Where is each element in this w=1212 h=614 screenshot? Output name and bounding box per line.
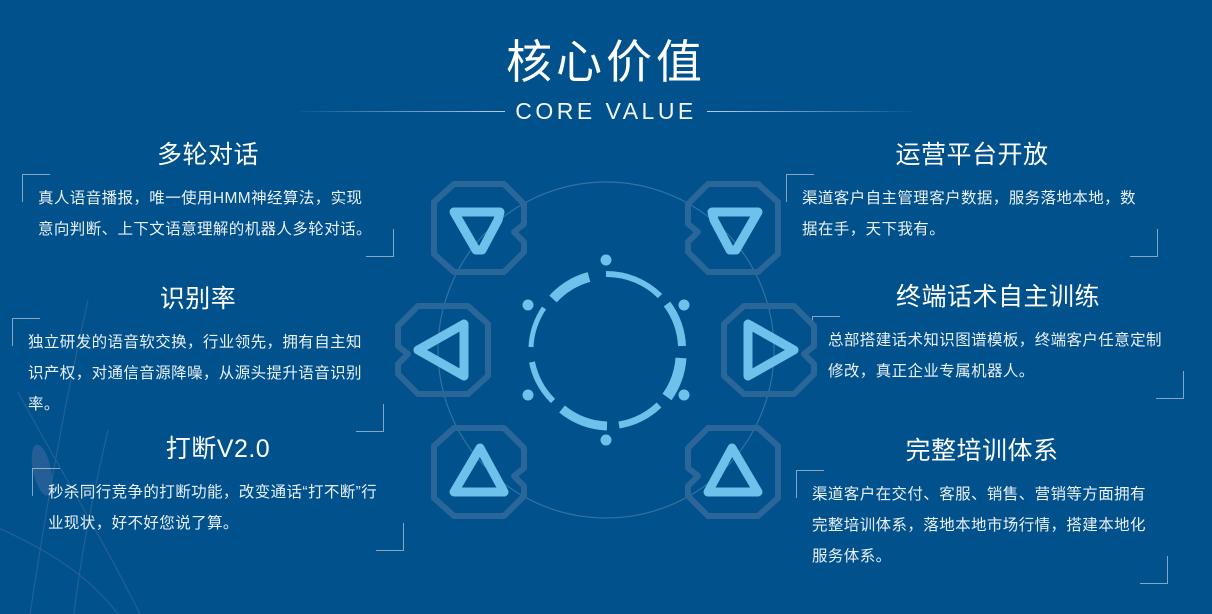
card-body-wrap: 总部搭建话术知识图谱模板，终端客户任意定制修改，真正企业专属机器人。 <box>812 316 1184 399</box>
accent-dots <box>523 255 690 446</box>
page-subtitle: CORE VALUE <box>505 98 707 124</box>
page-header: 核心价值 CORE VALUE <box>0 34 1212 124</box>
card-title: 完整培训体系 <box>796 434 1168 468</box>
card-body: 渠道客户自主管理客户数据，服务落地本地，数据在手，天下我有。 <box>802 183 1142 245</box>
triangle-arrow-lower-left-icon[interactable] <box>434 428 524 516</box>
triangle-arrow-upper-right-icon[interactable] <box>688 184 778 272</box>
title-rule-right <box>707 111 912 112</box>
dot-bottom <box>601 435 612 446</box>
feature-card-open-operation-platform[interactable]: 运营平台开放 渠道客户自主管理客户数据，服务落地本地，数据在手，天下我有。 <box>786 138 1158 257</box>
triangle-arrow-left-icon[interactable] <box>398 306 488 394</box>
dot-upper-right <box>679 300 690 311</box>
feature-card-complete-training-system[interactable]: 完整培训体系 渠道客户在交付、客服、销售、营销等方面拥有完整培训体系，落地本地市… <box>796 434 1168 584</box>
card-title: 终端话术自主训练 <box>812 280 1184 314</box>
core-value-infographic: 核心价值 CORE VALUE 多轮对话 真人语音播报，唯一使用HMM神经算法，… <box>0 0 1212 614</box>
card-body: 秒杀同行竞争的打断功能，改变通话“打不断”行业现状，好不好您说了算。 <box>48 477 388 539</box>
card-body-wrap: 真人语音播报，唯一使用HMM神经算法，实现意向判断、上下文语意理解的机器人多轮对… <box>22 174 394 257</box>
card-title: 运营平台开放 <box>786 138 1158 172</box>
card-body: 渠道客户在交付、客服、销售、营销等方面拥有完整培训体系，落地本地市场行情，搭建本… <box>812 479 1152 572</box>
dot-top <box>601 255 612 266</box>
card-body-wrap: 秒杀同行竞争的打断功能，改变通话“打不断”行业现状，好不好您说了算。 <box>32 468 404 551</box>
feature-card-multi-turn-dialogue[interactable]: 多轮对话 真人语音播报，唯一使用HMM神经算法，实现意向判断、上下文语意理解的机… <box>22 138 394 257</box>
card-title: 打断V2.0 <box>32 432 404 466</box>
card-body: 总部搭建话术知识图谱模板，终端客户任意定制修改，真正企业专属机器人。 <box>828 325 1168 387</box>
feature-card-terminal-script-training[interactable]: 终端话术自主训练 总部搭建话术知识图谱模板，终端客户任意定制修改，真正企业专属机… <box>812 280 1184 399</box>
triangle-arrow-right-icon[interactable] <box>724 306 814 394</box>
triangle-arrow-upper-left-icon[interactable] <box>434 184 524 272</box>
dot-upper-left <box>523 300 534 311</box>
card-title: 多轮对话 <box>22 138 394 172</box>
triangle-arrow-lower-right-icon[interactable] <box>688 428 778 516</box>
subtitle-row: CORE VALUE <box>0 98 1212 124</box>
page-title: 核心价值 <box>0 34 1212 90</box>
dot-lower-right <box>679 390 690 401</box>
card-body-wrap: 渠道客户自主管理客户数据，服务落地本地，数据在手，天下我有。 <box>786 174 1158 257</box>
segmented-ring <box>531 274 682 426</box>
center-emblem-graphic <box>376 150 836 550</box>
dot-lower-left <box>523 390 534 401</box>
feature-card-recognition-rate[interactable]: 识别率 独立研发的语音软交换，行业领先，拥有自主知识产权，对通信音源降噪，从源头… <box>12 282 384 432</box>
card-body-wrap: 渠道客户在交付、客服、销售、营销等方面拥有完整培训体系，落地本地市场行情，搭建本… <box>796 470 1168 584</box>
card-body: 真人语音播报，唯一使用HMM神经算法，实现意向判断、上下文语意理解的机器人多轮对… <box>38 183 378 245</box>
title-rule-left <box>300 111 505 112</box>
card-title: 识别率 <box>12 282 384 316</box>
feature-card-interrupt-v2[interactable]: 打断V2.0 秒杀同行竞争的打断功能，改变通话“打不断”行业现状，好不好您说了算… <box>32 432 404 551</box>
card-body: 独立研发的语音软交换，行业领先，拥有自主知识产权，对通信音源降噪，从源头提升语音… <box>28 327 368 420</box>
card-body-wrap: 独立研发的语音软交换，行业领先，拥有自主知识产权，对通信音源降噪，从源头提升语音… <box>12 318 384 432</box>
